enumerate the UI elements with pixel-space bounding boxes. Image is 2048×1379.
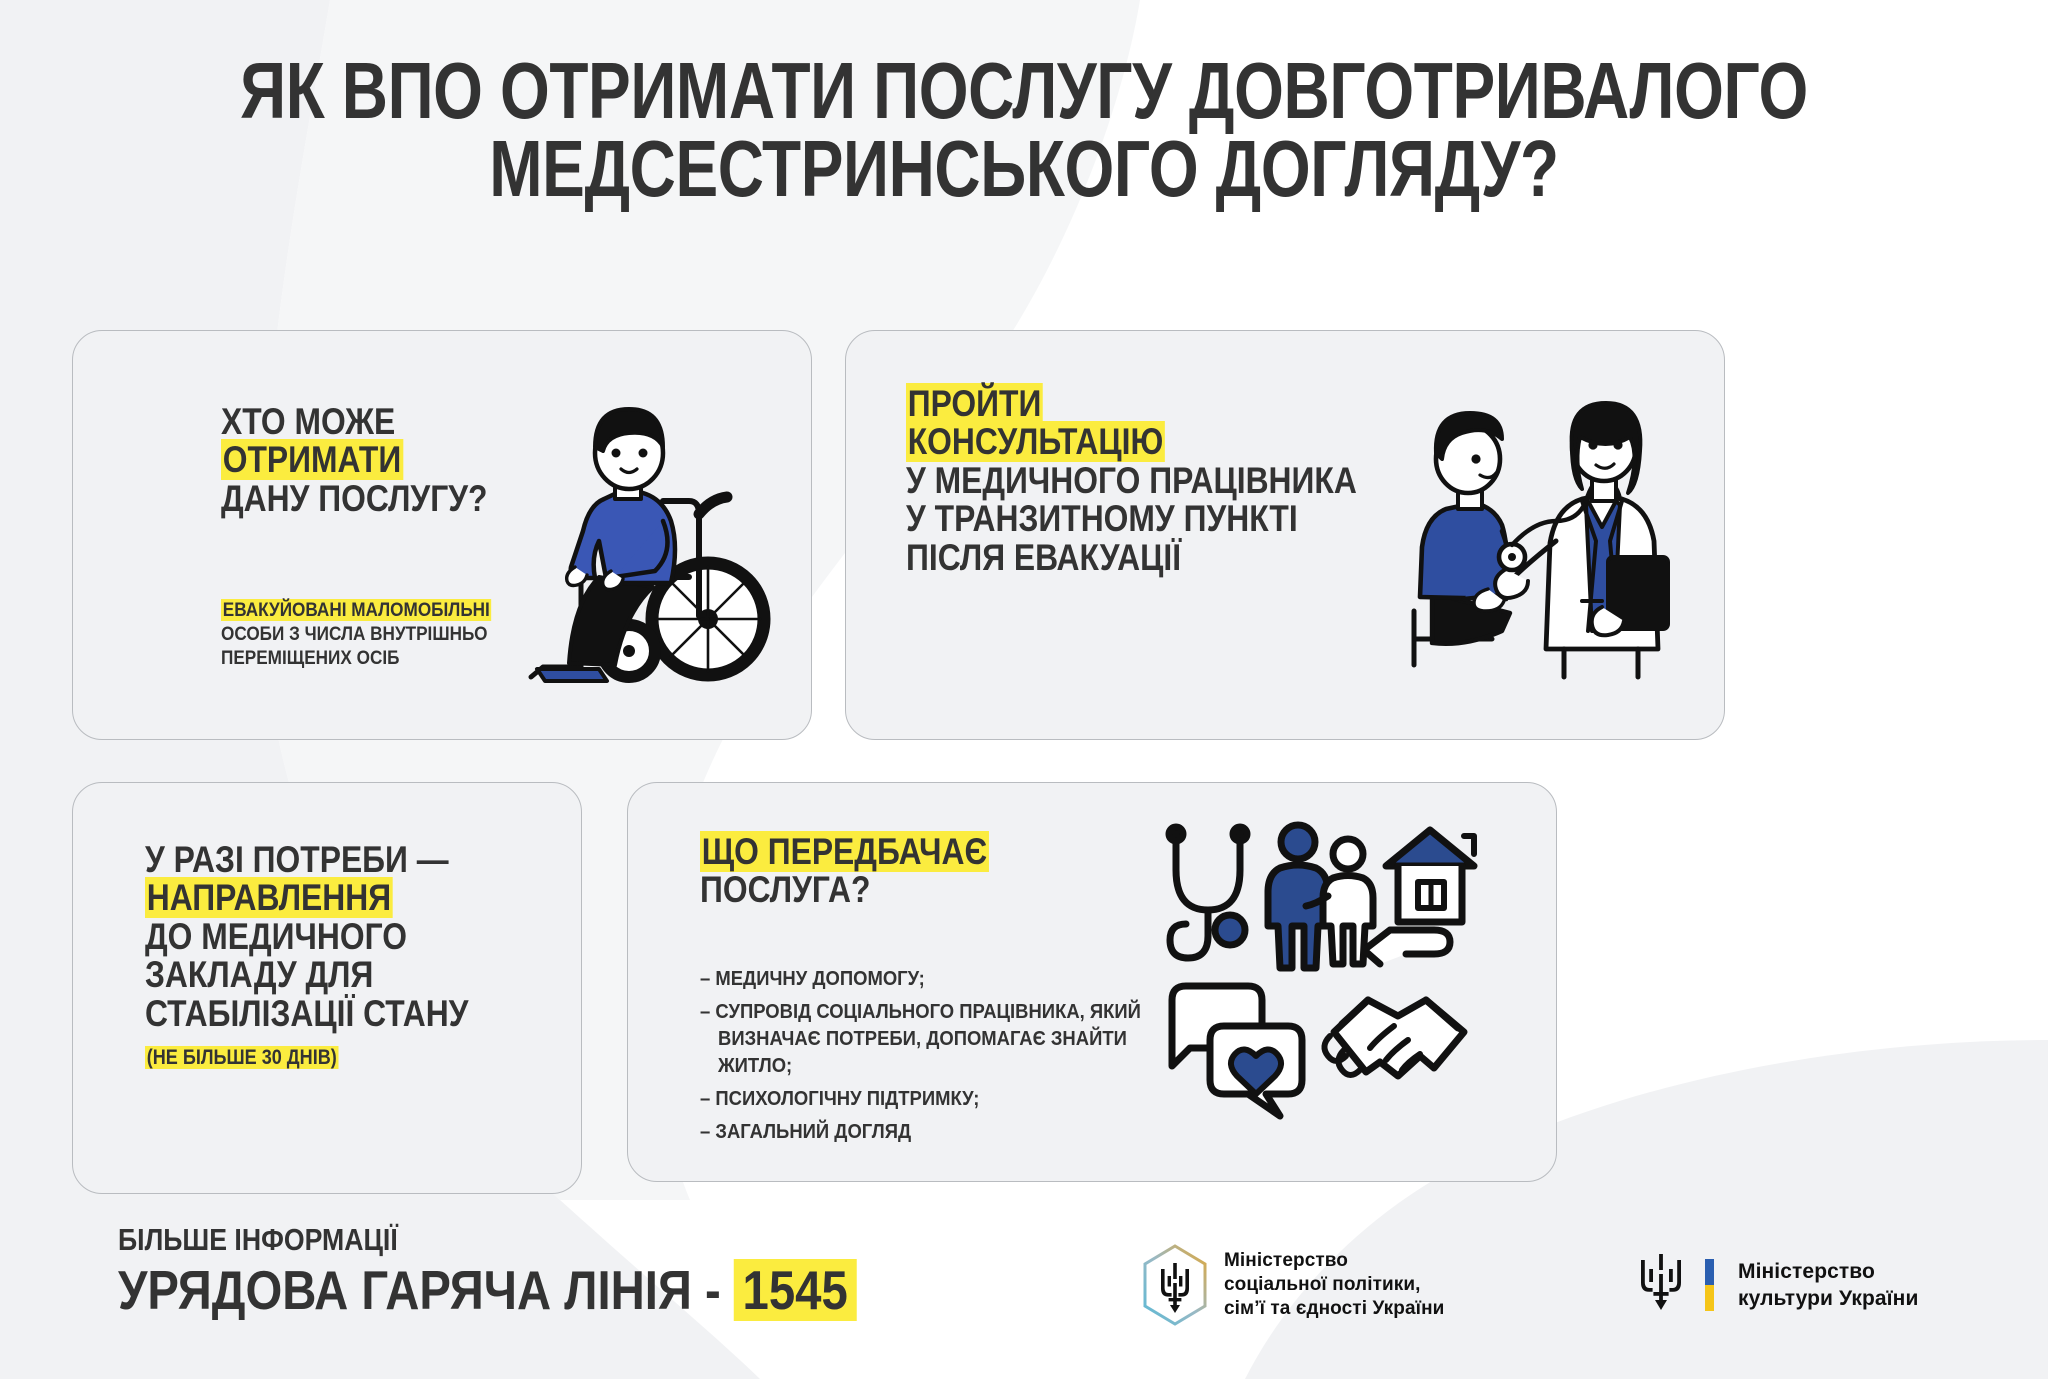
card2-heading-line4: У ТРАНЗИТНОМУ ПУНКТІ [906,500,1298,538]
card2-heading-line3: У МЕДИЧНОГО ПРАЦІВНИКА [906,462,1357,500]
card4-service-list: – МЕДИЧНУ ДОПОМОГУ; – СУПРОВІД СОЦІАЛЬНО… [700,965,1150,1151]
footer-hotline-number[interactable]: 1545 [734,1259,856,1321]
list-item: – СУПРОВІД СОЦІАЛЬНОГО ПРАЦІВНИКА, ЯКИЙ … [700,998,1150,1079]
footer-hotline: УРЯДОВА ГАРЯЧА ЛІНІЯ - 1545 [118,1258,856,1322]
title-line-2: МЕДСЕСТРИНСЬКОГО ДОГЛЯДУ? [205,130,1843,208]
card1-heading-line3: ДАНУ ПОСЛУГУ? [221,480,487,518]
two-people-icon [1268,825,1373,968]
card-referral: У РАЗІ ПОТРЕБИ — НАПРАВЛЕННЯ ДО МЕДИЧНОГ… [72,782,582,1194]
card2-heading: ПРОЙТИ КОНСУЛЬТАЦІЮ У МЕДИЧНОГО ПРАЦІВНИ… [906,385,1357,577]
stethoscope-icon [1169,827,1247,958]
card1-caption: ЕВАКУЙОВАНІ МАЛОМОБІЛЬНІ ОСОБИ З ЧИСЛА В… [221,599,492,670]
logo1-line3: сім’ї та єдності України [1224,1297,1444,1321]
card-service-includes: ЩО ПЕРЕДБАЧАЄ ПОСЛУГА? – МЕДИЧНУ ДОПОМОГ… [627,782,1557,1182]
list-item: – МЕДИЧНУ ДОПОМОГУ; [700,965,1150,992]
card4-heading-highlight: ЩО ПЕРЕДБАЧАЄ [700,831,989,872]
card3-heading-line1: У РАЗІ ПОТРЕБИ — [145,841,449,879]
card3-heading-highlight: НАПРАВЛЕННЯ [145,877,393,918]
card3-heading-line3: ДО МЕДИЧНОГО [145,918,407,956]
logo1-line2: соціальної політики, [1224,1273,1444,1297]
card2-heading-line5: ПІСЛЯ ЕВАКУАЦІЇ [906,539,1181,577]
logo-ministry-of-culture: Міністерство культури України [1633,1252,1918,1318]
speech-bubbles-heart-icon [1172,986,1302,1116]
doctor-examining-patient-illustration [1406,381,1716,681]
title-line-1: ЯК ВПО ОТРИМАТИ ПОСЛУГУ ДОВГОТРИВАЛОГО [240,46,1808,135]
card2-heading-highlight-2: КОНСУЛЬТАЦІЮ [906,421,1165,462]
handshake-icon [1324,1000,1464,1076]
logo-ministry-of-culture-text: Міністерство культури України [1738,1258,1918,1313]
card3-caption-highlight: (НЕ БІЛЬШЕ 30 ДНІВ) [145,1046,339,1069]
hexagon-trident-emblem-icon [1140,1243,1210,1327]
logo2-line1: Міністерство [1738,1258,1918,1285]
card4-heading-line2: ПОСЛУГА? [700,871,870,909]
list-item: – ЗАГАЛЬНИЙ ДОГЛЯД [700,1118,1150,1145]
infographic-page: ЯК ВПО ОТРИМАТИ ПОСЛУГУ ДОВГОТРИВАЛОГО М… [0,0,2048,1379]
card1-heading-highlight: ОТРИМАТИ [221,439,403,480]
ukraine-flag-bar-icon [1705,1259,1714,1311]
house-in-hand-icon [1364,830,1474,964]
card1-caption-line2: ОСОБИ З ЧИСЛА ВНУТРІШНЬО [221,623,487,647]
card-who-can-receive: ХТО МОЖЕ ОТРИМАТИ ДАНУ ПОСЛУГУ? ЕВАКУЙОВ… [72,330,812,740]
service-icons-group [1158,818,1478,1138]
trident-emblem-icon [1633,1252,1689,1318]
logo-ministry-of-social-policy-text: Міністерство соціальної політики, сім’ї … [1224,1249,1444,1322]
card1-heading: ХТО МОЖЕ ОТРИМАТИ ДАНУ ПОСЛУГУ? [221,403,487,518]
card1-caption-highlight: ЕВАКУЙОВАНІ МАЛОМОБІЛЬНІ [221,599,492,621]
card3-heading-line5: СТАБІЛІЗАЦІЇ СТАНУ [145,995,468,1033]
card1-heading-line1: ХТО МОЖЕ [221,403,395,441]
footer-hotline-label: УРЯДОВА ГАРЯЧА ЛІНІЯ - [118,1259,721,1321]
logo-ministry-of-social-policy: Міністерство соціальної політики, сім’ї … [1140,1243,1444,1327]
card1-caption-line3: ПЕРЕМІЩЕНИХ ОСІБ [221,647,399,671]
logo2-line2: культури України [1738,1285,1918,1312]
card3-heading-line4: ЗАКЛАДУ ДЛЯ [145,956,373,994]
card-consultation: ПРОЙТИ КОНСУЛЬТАЦІЮ У МЕДИЧНОГО ПРАЦІВНИ… [845,330,1725,740]
footer-more-info: БІЛЬШЕ ІНФОРМАЦІЇ [118,1222,398,1258]
person-in-wheelchair-illustration [503,381,793,701]
logo1-line1: Міністерство [1224,1249,1444,1273]
page-title: ЯК ВПО ОТРИМАТИ ПОСЛУГУ ДОВГОТРИВАЛОГО М… [205,52,1843,209]
list-item: – ПСИХОЛОГІЧНУ ПІДТРИМКУ; [700,1085,1150,1112]
card3-heading: У РАЗІ ПОТРЕБИ — НАПРАВЛЕННЯ ДО МЕДИЧНОГ… [145,841,468,1069]
card4-heading: ЩО ПЕРЕДБАЧАЄ ПОСЛУГА? [700,833,989,910]
card2-heading-highlight-1: ПРОЙТИ [906,383,1043,424]
